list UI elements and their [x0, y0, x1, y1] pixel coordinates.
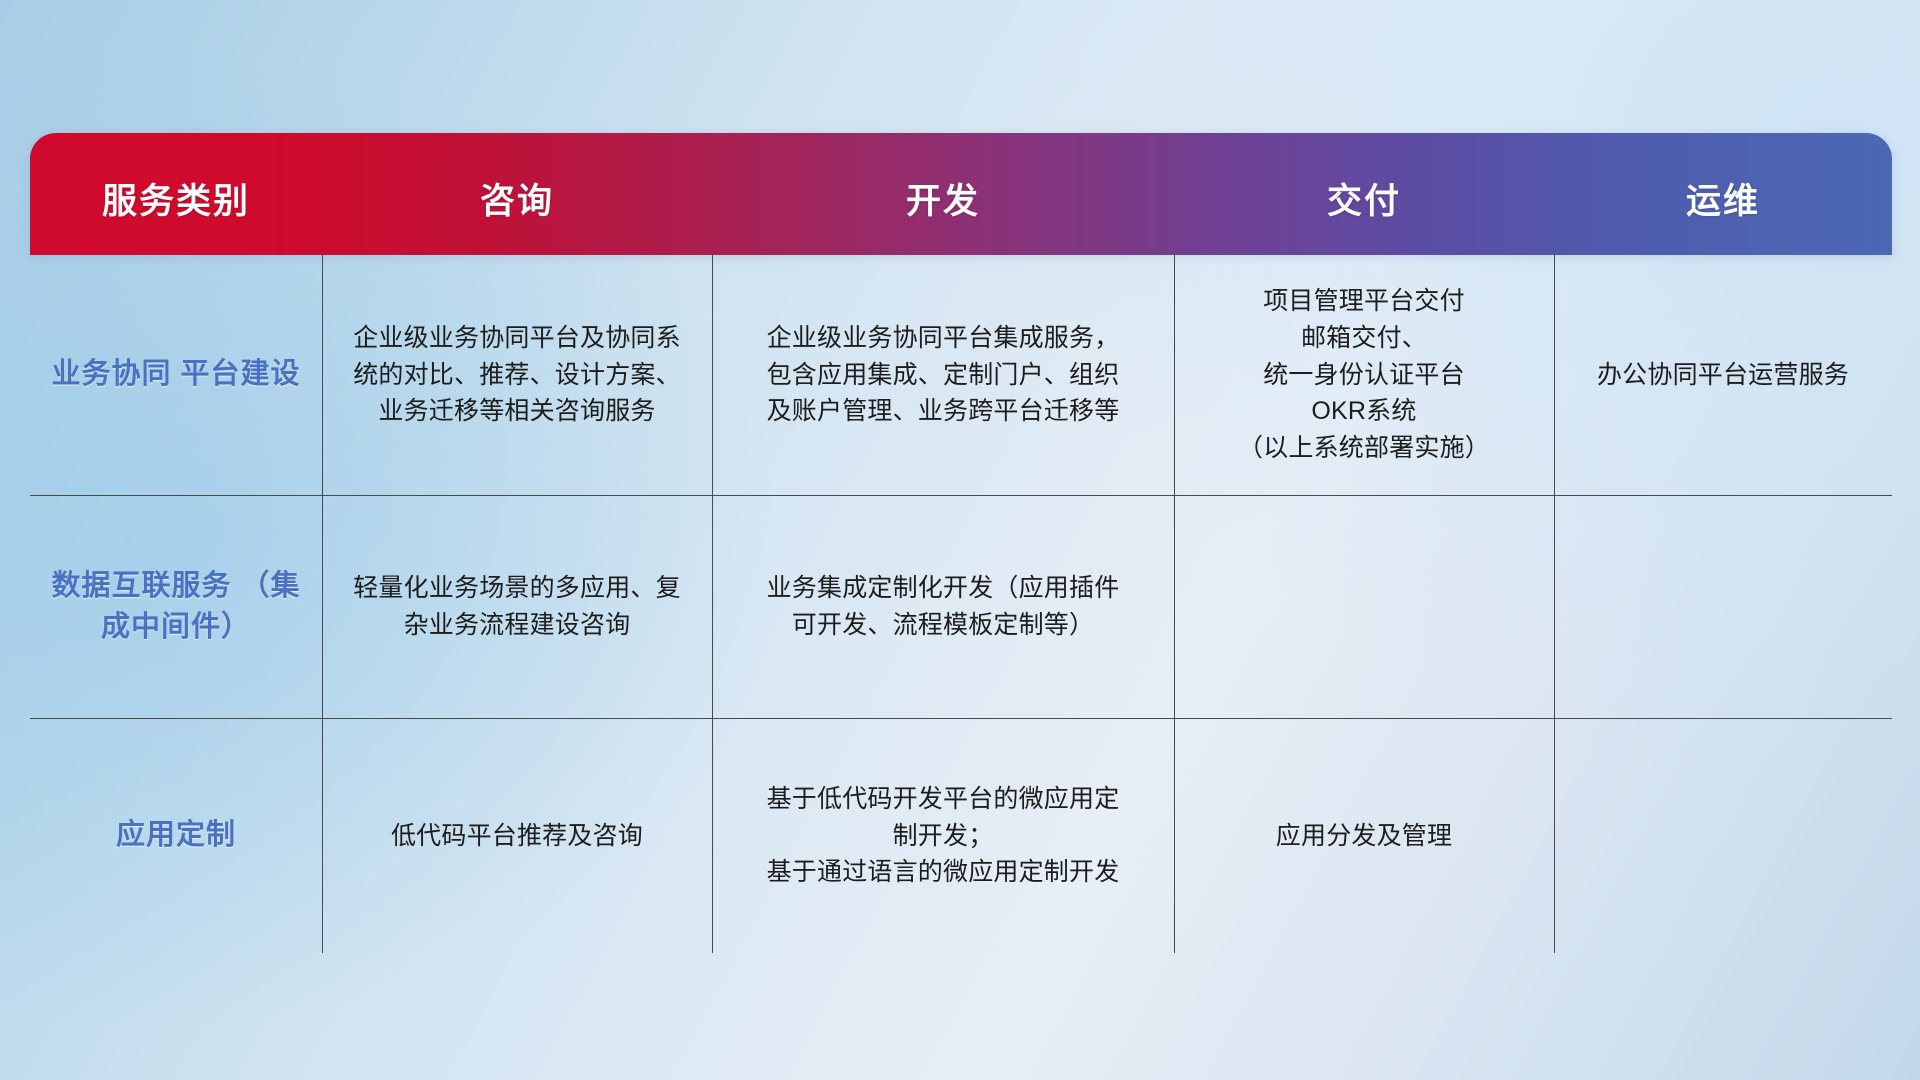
table-cell-development: 业务集成定制化开发（应用插件 可开发、流程模板定制等）: [712, 496, 1174, 718]
table-cell-category: 业务协同 平台建设: [30, 255, 322, 495]
table-row: 业务协同 平台建设 企业级业务协同平台及协同系 统的对比、推荐、设计方案、 业务…: [30, 255, 1892, 495]
cell-text: 低代码平台推荐及咨询: [391, 818, 643, 855]
table-cell-consulting: 低代码平台推荐及咨询: [322, 719, 712, 953]
table-header-cell-operations: 运维: [1554, 133, 1892, 255]
category-label: 业务协同 平台建设: [51, 354, 300, 395]
table-cell-consulting: 轻量化业务场景的多应用、复 杂业务流程建设咨询: [322, 496, 712, 718]
table-cell-category: 数据互联服务 （集成中间件）: [30, 496, 322, 718]
table-header-cell-consulting: 咨询: [322, 133, 712, 255]
table-cell-delivery: 项目管理平台交付 邮箱交付、 统一身份认证平台 OKR系统 （以上系统部署实施）: [1174, 255, 1554, 495]
table-row: 数据互联服务 （集成中间件） 轻量化业务场景的多应用、复 杂业务流程建设咨询 业…: [30, 496, 1892, 718]
category-label: 应用定制: [116, 815, 236, 856]
cell-text: 轻量化业务场景的多应用、复 杂业务流程建设咨询: [353, 570, 681, 644]
slide-canvas: 服务类别 咨询 开发 交付 运维 业务协同 平台建设 企业级业务协同平台及协同系…: [0, 0, 1920, 1080]
table-cell-development: 基于低代码开发平台的微应用定 制开发； 基于通过语言的微应用定制开发: [712, 719, 1174, 953]
cell-text: 企业级业务协同平台及协同系 统的对比、推荐、设计方案、 业务迁移等相关咨询服务: [353, 320, 681, 430]
table-cell-operations: [1554, 496, 1892, 718]
table-header-cell-development: 开发: [712, 133, 1174, 255]
cell-text: 办公协同平台运营服务: [1597, 357, 1849, 394]
category-label: 数据互联服务 （集成中间件）: [44, 566, 308, 648]
service-matrix-table: 服务类别 咨询 开发 交付 运维 业务协同 平台建设 企业级业务协同平台及协同系…: [30, 133, 1892, 953]
table-header-row: 服务类别 咨询 开发 交付 运维: [30, 133, 1892, 255]
table-header-cell-category: 服务类别: [30, 133, 322, 255]
table-cell-delivery: 应用分发及管理: [1174, 719, 1554, 953]
cell-text: 基于低代码开发平台的微应用定 制开发； 基于通过语言的微应用定制开发: [767, 781, 1120, 891]
table-row: 应用定制 低代码平台推荐及咨询 基于低代码开发平台的微应用定 制开发； 基于通过…: [30, 719, 1892, 953]
cell-text: 应用分发及管理: [1276, 818, 1452, 855]
table-cell-consulting: 企业级业务协同平台及协同系 统的对比、推荐、设计方案、 业务迁移等相关咨询服务: [322, 255, 712, 495]
table-cell-operations: 办公协同平台运营服务: [1554, 255, 1892, 495]
table-cell-development: 企业级业务协同平台集成服务， 包含应用集成、定制门户、组织 及账户管理、业务跨平…: [712, 255, 1174, 495]
table-header-cell-delivery: 交付: [1174, 133, 1554, 255]
cell-text: 项目管理平台交付 邮箱交付、 统一身份认证平台 OKR系统 （以上系统部署实施）: [1238, 283, 1490, 467]
cell-text: 企业级业务协同平台集成服务， 包含应用集成、定制门户、组织 及账户管理、业务跨平…: [767, 320, 1120, 430]
table-cell-operations: [1554, 719, 1892, 953]
cell-text: 业务集成定制化开发（应用插件 可开发、流程模板定制等）: [767, 570, 1120, 644]
table-cell-category: 应用定制: [30, 719, 322, 953]
table-cell-delivery: [1174, 496, 1554, 718]
table-body: 业务协同 平台建设 企业级业务协同平台及协同系 统的对比、推荐、设计方案、 业务…: [30, 255, 1892, 953]
